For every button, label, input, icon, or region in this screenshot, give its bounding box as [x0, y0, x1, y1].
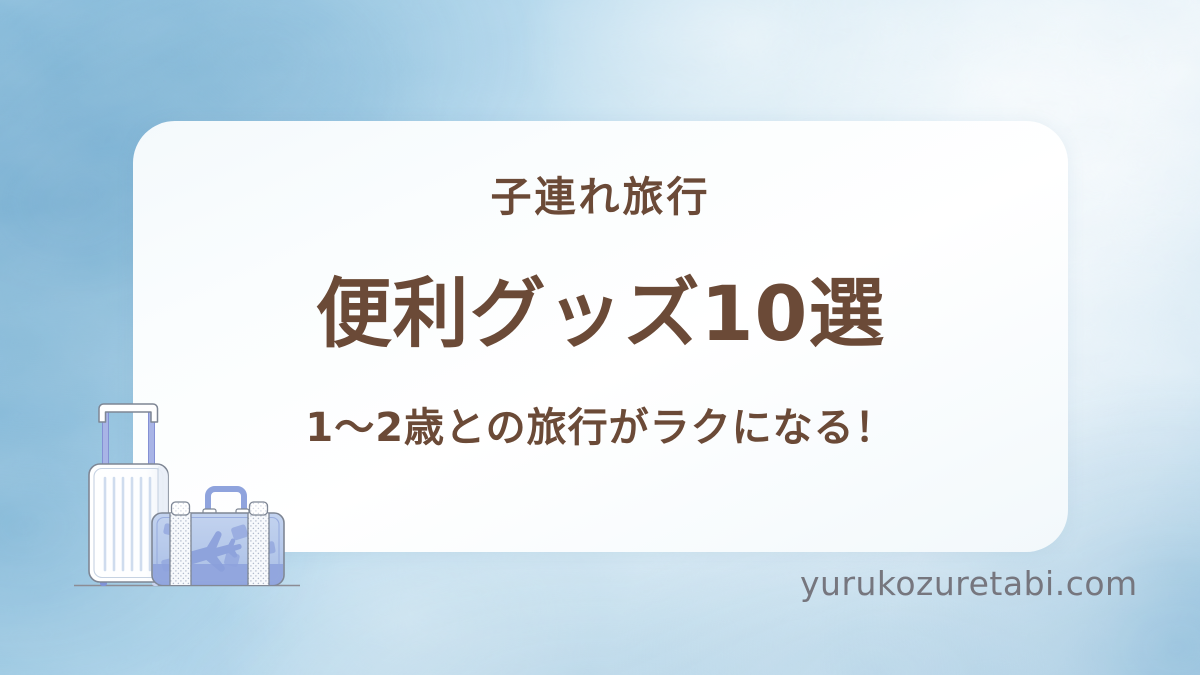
eyebrow-label: 子連れ旅行	[491, 177, 711, 218]
luggage-strap-left	[170, 502, 191, 585]
blue-case-handle	[208, 489, 244, 511]
site-watermark: yurukozuretabi.com	[800, 564, 1138, 603]
thumbnail-canvas: 子連れ旅行 便利グッズ10選 1〜2歳との旅行がラクになる！ yurukozur…	[0, 0, 1200, 675]
luggage-strap-right	[248, 502, 269, 585]
blue-travel-suitcase	[152, 489, 284, 585]
page-title: 便利グッズ10選	[316, 276, 886, 352]
tagline-text: 1〜2歳との旅行がラクになる！	[305, 408, 895, 448]
travel-luggage-illustration	[72, 392, 302, 597]
